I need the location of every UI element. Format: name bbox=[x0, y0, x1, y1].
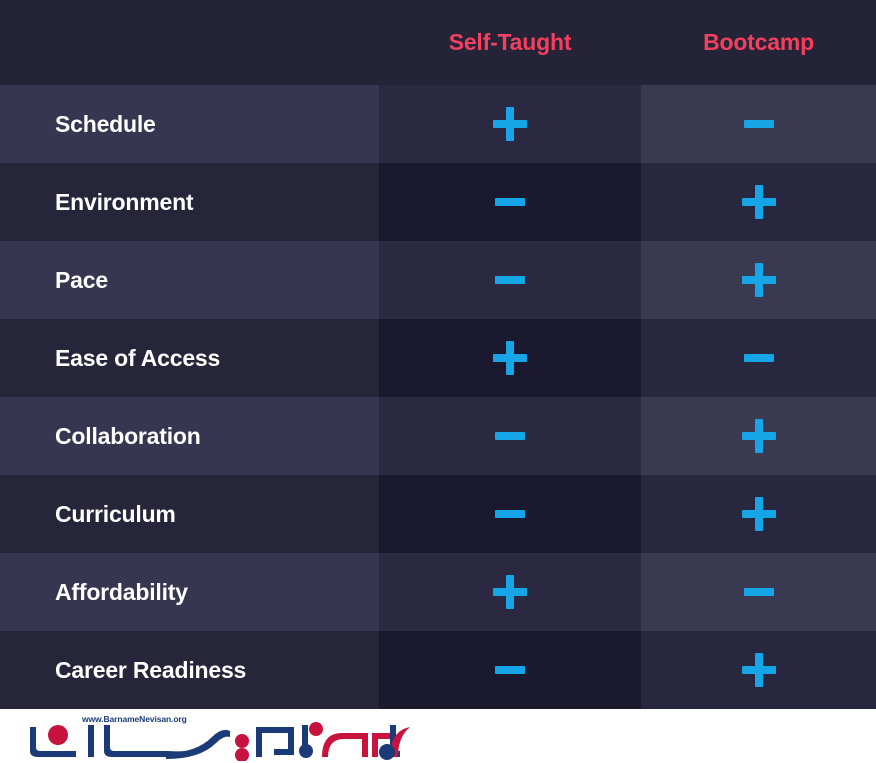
self-taught-cell bbox=[379, 631, 641, 709]
mark-horizontal-bar bbox=[495, 276, 525, 284]
table-header-row: Self-Taught Bootcamp bbox=[0, 0, 876, 85]
row-label-text: Career Readiness bbox=[55, 657, 246, 684]
header-label-bootcamp: Bootcamp bbox=[703, 29, 814, 56]
table-row: Affordability bbox=[0, 553, 876, 631]
mark-vertical-bar bbox=[506, 575, 514, 609]
table-row: Collaboration bbox=[0, 397, 876, 475]
bootcamp-cell bbox=[641, 319, 876, 397]
row-label-text: Ease of Access bbox=[55, 345, 220, 372]
row-label-text: Environment bbox=[55, 189, 193, 216]
row-label-cell: Environment bbox=[0, 163, 379, 241]
mark-horizontal-bar bbox=[744, 588, 774, 596]
table-row: Curriculum bbox=[0, 475, 876, 553]
bootcamp-cell bbox=[641, 85, 876, 163]
mark-vertical-bar bbox=[755, 653, 763, 687]
self-taught-cell bbox=[379, 241, 641, 319]
self-taught-cell bbox=[379, 475, 641, 553]
table-row: Career Readiness bbox=[0, 631, 876, 709]
row-label-cell: Collaboration bbox=[0, 397, 379, 475]
bootcamp-cell bbox=[641, 631, 876, 709]
table-row: Ease of Access bbox=[0, 319, 876, 397]
bootcamp-plus-icon bbox=[739, 650, 779, 690]
mark-vertical-bar bbox=[755, 497, 763, 531]
mark-horizontal-bar bbox=[744, 354, 774, 362]
header-cell-self-taught: Self-Taught bbox=[379, 0, 641, 85]
footer-strip: www.BarnameNevisan.org bbox=[0, 709, 876, 763]
mark-horizontal-bar bbox=[495, 510, 525, 518]
row-label-text: Pace bbox=[55, 267, 108, 294]
mark-vertical-bar bbox=[755, 263, 763, 297]
bootcamp-plus-icon bbox=[739, 416, 779, 456]
self-taught-cell bbox=[379, 163, 641, 241]
comparison-table-page: Self-Taught Bootcamp ScheduleEnvironment… bbox=[0, 0, 876, 763]
bootcamp-cell bbox=[641, 475, 876, 553]
row-label-cell: Career Readiness bbox=[0, 631, 379, 709]
row-label-text: Curriculum bbox=[55, 501, 176, 528]
row-label-text: Affordability bbox=[55, 579, 188, 606]
row-label-text: Schedule bbox=[55, 111, 156, 138]
table-body: ScheduleEnvironmentPaceEase of AccessCol… bbox=[0, 85, 876, 709]
barnamenevisan-logo[interactable]: www.BarnameNevisan.org bbox=[16, 711, 416, 761]
header-label-self-taught: Self-Taught bbox=[449, 29, 572, 56]
row-label-cell: Affordability bbox=[0, 553, 379, 631]
self-taught-cell bbox=[379, 397, 641, 475]
bootcamp-cell bbox=[641, 553, 876, 631]
self-taught-cell bbox=[379, 85, 641, 163]
row-label-text: Collaboration bbox=[55, 423, 201, 450]
self-taught-minus-icon bbox=[490, 182, 530, 222]
mark-vertical-bar bbox=[506, 107, 514, 141]
self-taught-plus-icon bbox=[490, 338, 530, 378]
logo-artwork bbox=[16, 711, 416, 761]
bootcamp-minus-icon bbox=[739, 338, 779, 378]
bootcamp-plus-icon bbox=[739, 182, 779, 222]
self-taught-plus-icon bbox=[490, 572, 530, 612]
bootcamp-minus-icon bbox=[739, 104, 779, 144]
self-taught-minus-icon bbox=[490, 260, 530, 300]
logo-url-text: www.BarnameNevisan.org bbox=[82, 714, 187, 724]
header-cell-bootcamp: Bootcamp bbox=[641, 0, 876, 85]
bootcamp-plus-icon bbox=[739, 260, 779, 300]
comparison-table: Self-Taught Bootcamp ScheduleEnvironment… bbox=[0, 0, 876, 709]
row-label-cell: Schedule bbox=[0, 85, 379, 163]
mark-horizontal-bar bbox=[495, 666, 525, 674]
mark-horizontal-bar bbox=[495, 432, 525, 440]
bootcamp-cell bbox=[641, 241, 876, 319]
mark-horizontal-bar bbox=[744, 120, 774, 128]
mark-vertical-bar bbox=[755, 185, 763, 219]
table-row: Pace bbox=[0, 241, 876, 319]
mark-vertical-bar bbox=[506, 341, 514, 375]
self-taught-cell bbox=[379, 553, 641, 631]
bootcamp-minus-icon bbox=[739, 572, 779, 612]
mark-vertical-bar bbox=[755, 419, 763, 453]
self-taught-cell bbox=[379, 319, 641, 397]
row-label-cell: Pace bbox=[0, 241, 379, 319]
table-row: Schedule bbox=[0, 85, 876, 163]
row-label-cell: Curriculum bbox=[0, 475, 379, 553]
self-taught-minus-icon bbox=[490, 416, 530, 456]
bootcamp-cell bbox=[641, 397, 876, 475]
row-label-cell: Ease of Access bbox=[0, 319, 379, 397]
bootcamp-plus-icon bbox=[739, 494, 779, 534]
table-row: Environment bbox=[0, 163, 876, 241]
mark-horizontal-bar bbox=[495, 198, 525, 206]
self-taught-minus-icon bbox=[490, 494, 530, 534]
header-cell-criteria bbox=[0, 0, 379, 85]
self-taught-plus-icon bbox=[490, 104, 530, 144]
self-taught-minus-icon bbox=[490, 650, 530, 690]
bootcamp-cell bbox=[641, 163, 876, 241]
